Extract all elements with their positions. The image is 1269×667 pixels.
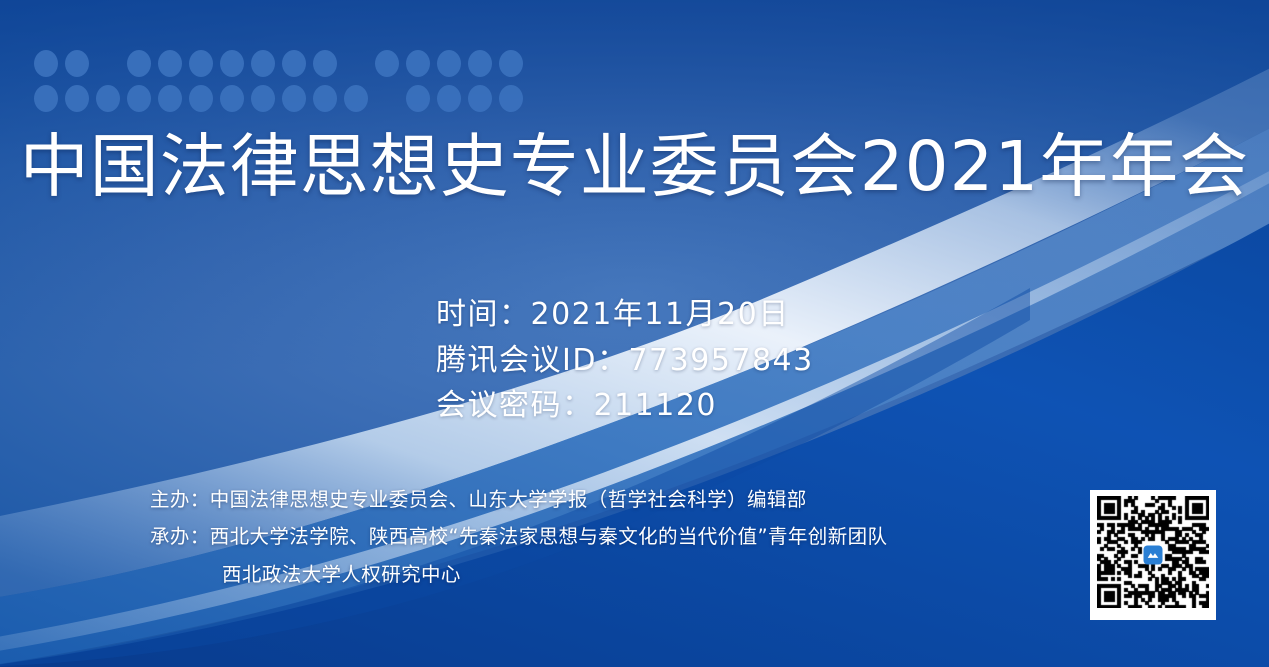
decorative-dot-matrix <box>34 50 523 112</box>
decor-dot <box>127 85 151 112</box>
presentation-slide: 中国法律思想史专业委员会2021年年会 时间：2021年11月20日 腾讯会议I… <box>0 0 1269 667</box>
decor-dot <box>344 85 368 112</box>
decor-dot <box>34 50 58 77</box>
decor-dot <box>251 50 275 77</box>
decor-dot <box>499 85 523 112</box>
meeting-time: 时间：2021年11月20日 <box>436 292 814 338</box>
decor-dot <box>189 85 213 112</box>
decor-dot <box>158 50 182 77</box>
decor-dot <box>158 85 182 112</box>
decor-dot <box>34 85 58 112</box>
dot-row-1 <box>34 85 523 112</box>
decor-dot <box>96 85 120 112</box>
decor-dot <box>282 50 306 77</box>
meeting-password: 会议密码：211120 <box>436 383 814 429</box>
decor-dot <box>251 85 275 112</box>
decor-dot <box>437 85 461 112</box>
decor-dot <box>282 85 306 112</box>
decor-dot <box>96 50 120 77</box>
decor-dot <box>220 50 244 77</box>
organizer-coorganizer-line: 承办：西北大学法学院、陕西高校“先秦法家思想与秦文化的当代价值”青年创新团队 <box>150 518 887 555</box>
decor-dot <box>406 50 430 77</box>
organizer-block: 主办：中国法律思想史专业委员会、山东大学学报（哲学社会科学）编辑部 承办：西北大… <box>150 481 887 593</box>
decor-dot <box>375 85 399 112</box>
decor-dot <box>313 85 337 112</box>
decor-dot <box>468 50 492 77</box>
meeting-id: 腾讯会议ID：773957843 <box>436 338 814 384</box>
decor-dot <box>437 50 461 77</box>
decor-dot <box>406 85 430 112</box>
decor-dot <box>468 85 492 112</box>
meeting-info-block: 时间：2021年11月20日 腾讯会议ID：773957843 会议密码：211… <box>436 292 814 429</box>
decor-dot <box>375 50 399 77</box>
organizer-host-line: 主办：中国法律思想史专业委员会、山东大学学报（哲学社会科学）编辑部 <box>150 481 887 518</box>
decor-dot <box>65 85 89 112</box>
decor-dot <box>127 50 151 77</box>
tencent-meeting-qr-code[interactable] <box>1090 490 1216 620</box>
tencent-meeting-logo-icon <box>1144 546 1163 565</box>
decor-dot <box>499 50 523 77</box>
decor-dot <box>220 85 244 112</box>
page-title: 中国法律思想史专业委员会2021年年会 <box>0 133 1269 202</box>
decor-dot <box>313 50 337 77</box>
dot-row-0 <box>34 50 523 77</box>
decor-dot <box>65 50 89 77</box>
organizer-coorganizer-line-2: 西北政法大学人权研究中心 <box>150 556 887 593</box>
decor-dot <box>189 50 213 77</box>
decor-dot <box>344 50 368 77</box>
